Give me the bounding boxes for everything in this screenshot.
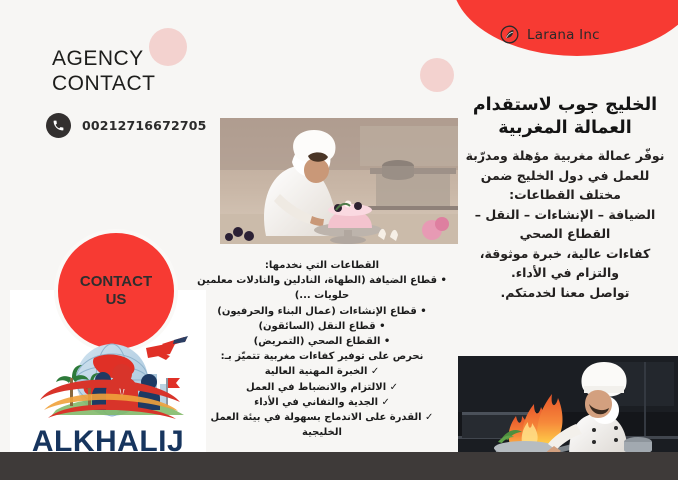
larana-brand-name: Larana Inc: [527, 27, 600, 43]
quality-item: ✓ القدرة على الاندماج بسهولة في بيئة الع…: [196, 410, 448, 425]
swirl-leaf-icon: [500, 25, 519, 44]
quality-item: ✓ الالتزام والانضباط في العمل: [196, 380, 448, 395]
description-line: القطاع الصحي: [452, 224, 678, 244]
company-heading-line-1: الخليج جوب لاستقدام: [452, 94, 678, 117]
contact-us-line-2: US: [106, 291, 127, 309]
agency-title-line-2: CONTACT: [52, 71, 232, 96]
chef-cake-photo: [220, 118, 458, 244]
service-bullet: • قطاع الإنشاءات (عمال البناء والحرفيون): [196, 304, 448, 319]
phone-icon: [46, 113, 71, 138]
bottom-dark-bar: [0, 452, 678, 480]
company-heading-line-2: العمالة المغربية: [452, 117, 678, 140]
phone-contact-row[interactable]: 00212716672705: [46, 113, 207, 138]
description-line: الضيافة – الإنشاءات – النقل –: [452, 205, 678, 225]
description-line: مختلف القطاعات:: [452, 185, 678, 205]
service-bullet: • قطاع الضيافة (الطهاة، النادلين والنادل…: [196, 273, 448, 288]
logo-artwork-icon: [14, 330, 202, 434]
description-line: والتزام في الأداء.: [452, 263, 678, 283]
service-bullet: • قطاع النقل (السائقون): [196, 319, 448, 334]
agency-title-line-1: AGENCY: [52, 46, 232, 71]
description-line: تواصل معنا لخدمتكم.: [452, 283, 678, 303]
company-heading: الخليج جوب لاستقدام العمالة المغربية: [452, 94, 678, 140]
description-line: نوفّر عمالة مغربية مؤهلة ومدرّبة: [452, 146, 678, 166]
agency-contact-title: AGENCY CONTACT: [52, 46, 232, 96]
services-heading: القطاعات التي نخدمها:: [196, 258, 448, 273]
pink-circle-decoration-right: [420, 58, 454, 92]
quality-item: الخليجية: [196, 425, 448, 440]
quality-item: ✓ الخبرة المهنية العالية: [196, 364, 448, 379]
poster-canvas: Larana Inc AGENCY CONTACT 00212716672705: [0, 0, 678, 480]
qualities-subheading: نحرص على توفير كفاءات مغربية تتميّز بـ:: [196, 349, 448, 364]
quality-item: ✓ الجدية والتفاني في الأداء: [196, 395, 448, 410]
description-line: للعمل في دول الخليج ضمن: [452, 166, 678, 186]
phone-number: 00212716672705: [82, 118, 207, 133]
contact-us-line-1: CONTACT: [80, 273, 152, 291]
services-text-block: القطاعات التي نخدمها: • قطاع الضيافة (ال…: [196, 258, 448, 440]
chef-flame-photo: [458, 356, 678, 464]
service-bullet: حلويات ...): [196, 288, 448, 303]
service-bullet: • القطاع الصحي (التمريض): [196, 334, 448, 349]
description-line: كفاءات عالية، خبرة موثوقة،: [452, 244, 678, 264]
larana-brand: Larana Inc: [500, 25, 600, 44]
company-description: نوفّر عمالة مغربية مؤهلة ومدرّبة للعمل ف…: [452, 146, 678, 302]
